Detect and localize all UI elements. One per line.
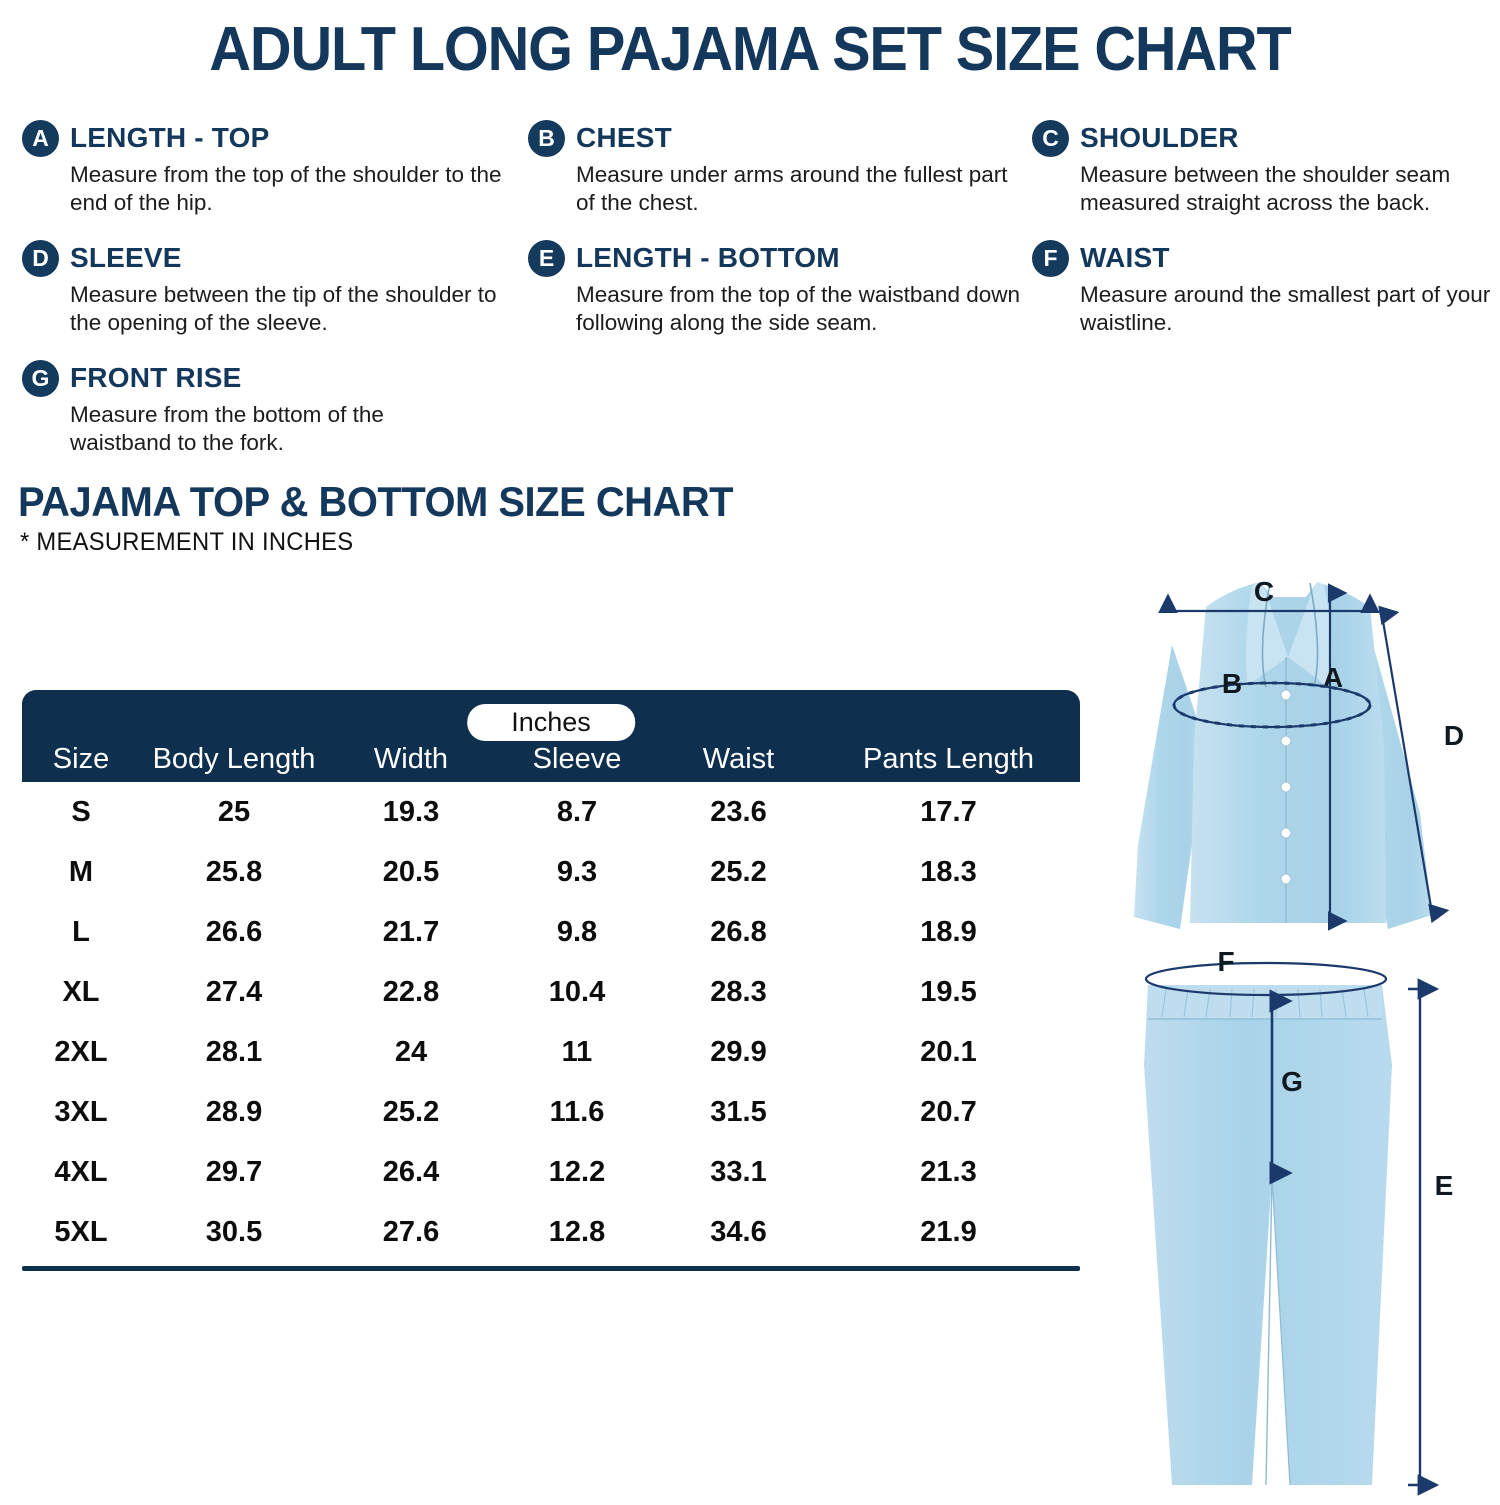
cell-size: L [22, 916, 140, 949]
measurement-heading: C SHOULDER [1032, 118, 1492, 158]
measurement-description: Measure from the top of the shoulder to … [70, 161, 512, 218]
cell-waist: 28.3 [660, 976, 817, 1009]
cell-body-length: 29.7 [140, 1156, 328, 1189]
cell-sleeve: 11.6 [494, 1096, 660, 1129]
column-header-size: Size [22, 743, 140, 776]
measurement-name: CHEST [576, 122, 672, 154]
section-title: PAJAMA TOP & BOTTOM SIZE CHART [18, 478, 733, 526]
cell-width: 20.5 [328, 856, 494, 889]
measurement-heading: A LENGTH - TOP [22, 118, 512, 158]
letter-badge-d: D [22, 240, 59, 277]
cell-size: 2XL [22, 1036, 140, 1069]
cell-body-length: 28.9 [140, 1096, 328, 1129]
cell-size: 5XL [22, 1216, 140, 1249]
cell-sleeve: 9.3 [494, 856, 660, 889]
measurement-description: Measure between the shoulder seam measur… [1080, 161, 1492, 218]
column-header-waist: Waist [660, 743, 817, 776]
letter-badge-c: C [1032, 120, 1069, 157]
cell-pants-length: 21.3 [817, 1156, 1080, 1189]
cell-pants-length: 19.5 [817, 976, 1080, 1009]
cell-pants-length: 18.3 [817, 856, 1080, 889]
marker-label-g: G [1281, 1066, 1303, 1097]
cell-sleeve: 9.8 [494, 916, 660, 949]
measurement-description: Measure between the tip of the shoulder … [70, 281, 532, 338]
cell-size: S [22, 796, 140, 829]
column-header-sleeve: Sleeve [494, 743, 660, 776]
cell-pants-length: 18.9 [817, 916, 1080, 949]
measurement-item-f: F WAIST Measure around the smallest part… [1032, 238, 1492, 338]
cell-body-length: 26.6 [140, 916, 328, 949]
measurement-unit-note: * MEASUREMENT IN INCHES [20, 528, 353, 557]
cell-width: 21.7 [328, 916, 494, 949]
letter-badge-f: F [1032, 240, 1069, 277]
measurement-definitions: A LENGTH - TOP Measure from the top of t… [0, 110, 1500, 470]
cell-sleeve: 11 [494, 1036, 660, 1069]
measurement-heading: F WAIST [1032, 238, 1492, 278]
pajama-top-illustration: C A B D [1134, 575, 1464, 929]
pajama-pants-illustration: F G E [1144, 946, 1453, 1485]
cell-pants-length: 20.1 [817, 1036, 1080, 1069]
measurement-name: SLEEVE [70, 242, 182, 274]
cell-width: 26.4 [328, 1156, 494, 1189]
measurement-description: Measure from the top of the waistband do… [576, 281, 1028, 338]
cell-body-length: 28.1 [140, 1036, 328, 1069]
size-table: Inches Size Body Length Width Sleeve Wai… [22, 690, 1080, 1271]
table-row: XL 27.4 22.8 10.4 28.3 19.5 [22, 962, 1080, 1022]
table-bottom-rule [22, 1266, 1080, 1271]
cell-width: 25.2 [328, 1096, 494, 1129]
measurement-name: LENGTH - TOP [70, 122, 269, 154]
cell-pants-length: 17.7 [817, 796, 1080, 829]
table-row: 2XL 28.1 24 11 29.9 20.1 [22, 1022, 1080, 1082]
cell-waist: 26.8 [660, 916, 817, 949]
column-header-pants-length: Pants Length [817, 743, 1080, 776]
measurement-item-d: D SLEEVE Measure between the tip of the … [22, 238, 532, 338]
cell-width: 24 [328, 1036, 494, 1069]
marker-label-b: B [1222, 668, 1242, 699]
measurement-description: Measure around the smallest part of your… [1080, 281, 1492, 338]
measurement-heading: B CHEST [528, 118, 1018, 158]
marker-label-d: D [1444, 720, 1464, 751]
measurement-description: Measure from the bottom of the waistband… [70, 401, 440, 458]
cell-body-length: 30.5 [140, 1216, 328, 1249]
measurement-item-a: A LENGTH - TOP Measure from the top of t… [22, 118, 512, 218]
cell-sleeve: 12.8 [494, 1216, 660, 1249]
measurement-item-e: E LENGTH - BOTTOM Measure from the top o… [528, 238, 1028, 338]
cell-sleeve: 10.4 [494, 976, 660, 1009]
table-row: 5XL 30.5 27.6 12.8 34.6 21.9 [22, 1202, 1080, 1262]
table-header-row: Size Body Length Width Sleeve Waist Pant… [22, 743, 1080, 776]
cell-waist: 33.1 [660, 1156, 817, 1189]
measurement-item-c: C SHOULDER Measure between the shoulder … [1032, 118, 1492, 218]
table-body: S 25 19.3 8.7 23.6 17.7 M 25.8 20.5 9.3 … [22, 782, 1080, 1262]
measurement-heading: E LENGTH - BOTTOM [528, 238, 1028, 278]
cell-waist: 31.5 [660, 1096, 817, 1129]
measurement-heading: G FRONT RISE [22, 358, 472, 398]
letter-badge-a: A [22, 120, 59, 157]
cell-size: 3XL [22, 1096, 140, 1129]
cell-waist: 25.2 [660, 856, 817, 889]
unit-badge: Inches [467, 704, 635, 741]
marker-label-e: E [1435, 1170, 1454, 1201]
cell-size: XL [22, 976, 140, 1009]
measurement-description: Measure under arms around the fullest pa… [576, 161, 1018, 218]
letter-badge-e: E [528, 240, 565, 277]
table-row: S 25 19.3 8.7 23.6 17.7 [22, 782, 1080, 842]
cell-sleeve: 8.7 [494, 796, 660, 829]
table-row: 4XL 29.7 26.4 12.2 33.1 21.3 [22, 1142, 1080, 1202]
table-header: Inches Size Body Length Width Sleeve Wai… [22, 690, 1080, 782]
cell-width: 27.6 [328, 1216, 494, 1249]
cell-body-length: 25.8 [140, 856, 328, 889]
cell-width: 19.3 [328, 796, 494, 829]
table-row: 3XL 28.9 25.2 11.6 31.5 20.7 [22, 1082, 1080, 1142]
column-header-body-length: Body Length [140, 743, 328, 776]
table-row: L 26.6 21.7 9.8 26.8 18.9 [22, 902, 1080, 962]
cell-pants-length: 20.7 [817, 1096, 1080, 1129]
cell-size: M [22, 856, 140, 889]
garment-illustrations: C A B D F G [1120, 545, 1500, 1505]
cell-size: 4XL [22, 1156, 140, 1189]
measurement-name: WAIST [1080, 242, 1170, 274]
cell-pants-length: 21.9 [817, 1216, 1080, 1249]
cell-waist: 34.6 [660, 1216, 817, 1249]
measurement-heading: D SLEEVE [22, 238, 532, 278]
measurement-item-b: B CHEST Measure under arms around the fu… [528, 118, 1018, 218]
marker-label-c: C [1254, 576, 1274, 607]
table-row: M 25.8 20.5 9.3 25.2 18.3 [22, 842, 1080, 902]
column-header-width: Width [328, 743, 494, 776]
cell-body-length: 25 [140, 796, 328, 829]
measurement-item-g: G FRONT RISE Measure from the bottom of … [22, 358, 472, 458]
letter-badge-b: B [528, 120, 565, 157]
letter-badge-g: G [22, 360, 59, 397]
cell-body-length: 27.4 [140, 976, 328, 1009]
cell-width: 22.8 [328, 976, 494, 1009]
measurement-name: LENGTH - BOTTOM [576, 242, 840, 274]
measurement-name: SHOULDER [1080, 122, 1239, 154]
cell-sleeve: 12.2 [494, 1156, 660, 1189]
marker-label-f: F [1217, 946, 1234, 977]
cell-waist: 29.9 [660, 1036, 817, 1069]
cell-waist: 23.6 [660, 796, 817, 829]
page-title: ADULT LONG PAJAMA SET SIZE CHART [53, 14, 1448, 85]
measurement-name: FRONT RISE [70, 362, 242, 394]
